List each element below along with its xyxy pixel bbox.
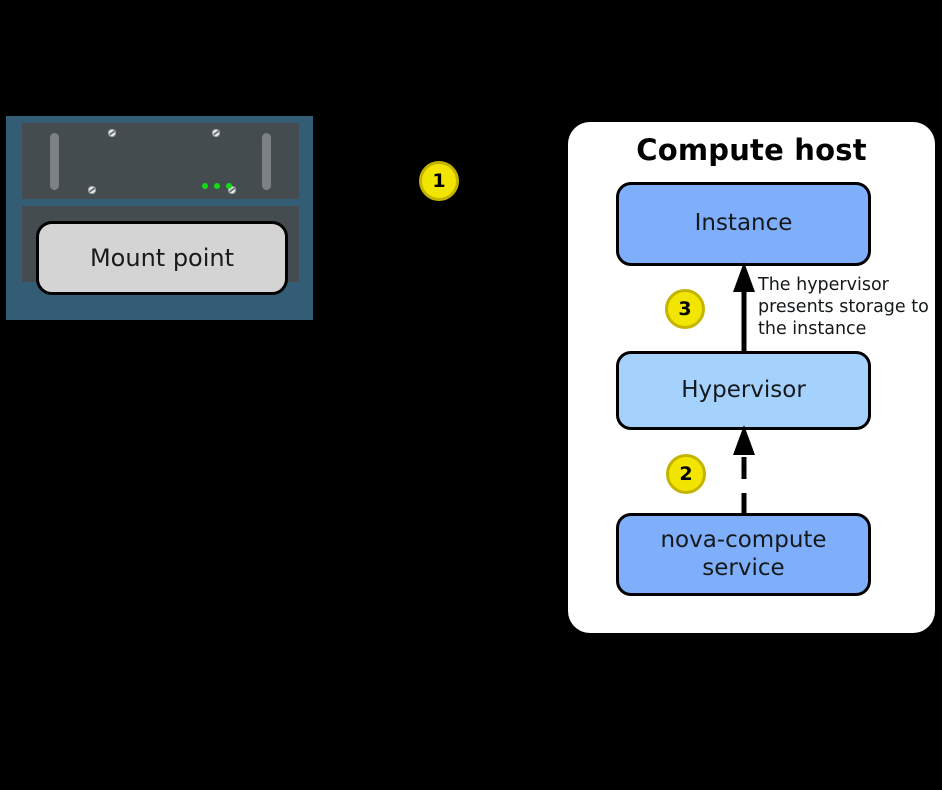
nova-compute-service-label: nova-computeservice — [660, 527, 826, 581]
status-led-icon — [226, 183, 232, 189]
nova-compute-service-box: nova-computeservice — [616, 513, 871, 596]
chassis-handle-left-icon — [50, 133, 59, 190]
arrow-hypervisor-to-instance-icon — [734, 262, 754, 354]
status-led-icon — [214, 183, 220, 189]
step-badge-2: 2 — [666, 454, 706, 494]
instance-box: Instance — [616, 182, 871, 266]
screw-icon — [88, 186, 96, 194]
compute-host-title: Compute host — [568, 133, 935, 167]
step-badge-3: 3 — [665, 289, 705, 329]
step-badge-1: 1 — [419, 161, 459, 201]
storage-chassis-top-panel — [22, 123, 299, 199]
screw-icon — [108, 129, 116, 137]
screw-icon — [212, 129, 220, 137]
compute-host-panel: Compute host Instance The hypervisor pre… — [568, 122, 935, 633]
chassis-handle-right-icon — [262, 133, 271, 190]
arrow-nova-compute-to-hypervisor-icon — [734, 425, 754, 515]
hypervisor-box: Hypervisor — [616, 351, 871, 430]
hypervisor-note-text: The hypervisor presents storage to the i… — [758, 274, 938, 340]
status-led-icon — [202, 183, 208, 189]
mount-point-box: Mount point — [36, 221, 288, 295]
storage-array: Mount point — [6, 116, 313, 320]
